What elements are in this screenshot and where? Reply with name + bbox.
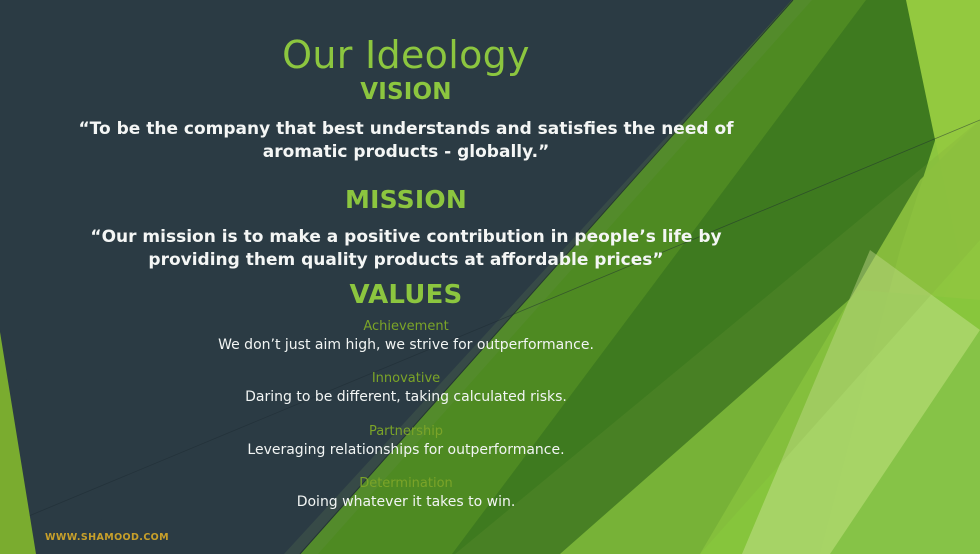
slide-content: Our Ideology VISION “To be the company t… (0, 0, 980, 554)
value-name: Determination (0, 475, 812, 492)
values-heading: VALUES (0, 280, 812, 310)
value-name: Achievement (0, 318, 812, 335)
value-item: Determination Doing whatever it takes to… (0, 475, 812, 511)
vision-statement: “To be the company that best understands… (66, 118, 746, 164)
footer-website-url: WWW.SHAMOOD.COM (45, 532, 169, 544)
page-title: Our Ideology (0, 33, 812, 77)
vision-heading: VISION (0, 79, 812, 105)
value-description: Daring to be different, taking calculate… (0, 388, 812, 406)
value-description: We don’t just aim high, we strive for ou… (0, 336, 812, 354)
value-item: Partnership Leveraging relationships for… (0, 423, 812, 459)
value-name: Innovative (0, 370, 812, 387)
mission-heading: MISSION (0, 186, 812, 214)
value-description: Doing whatever it takes to win. (0, 493, 812, 511)
value-name: Partnership (0, 423, 812, 440)
presentation-slide: Our Ideology VISION “To be the company t… (0, 0, 980, 554)
mission-statement: “Our mission is to make a positive contr… (56, 226, 756, 272)
value-item: Innovative Daring to be different, takin… (0, 370, 812, 406)
value-item: Achievement We don’t just aim high, we s… (0, 318, 812, 354)
value-description: Leveraging relationships for outperforma… (0, 441, 812, 459)
